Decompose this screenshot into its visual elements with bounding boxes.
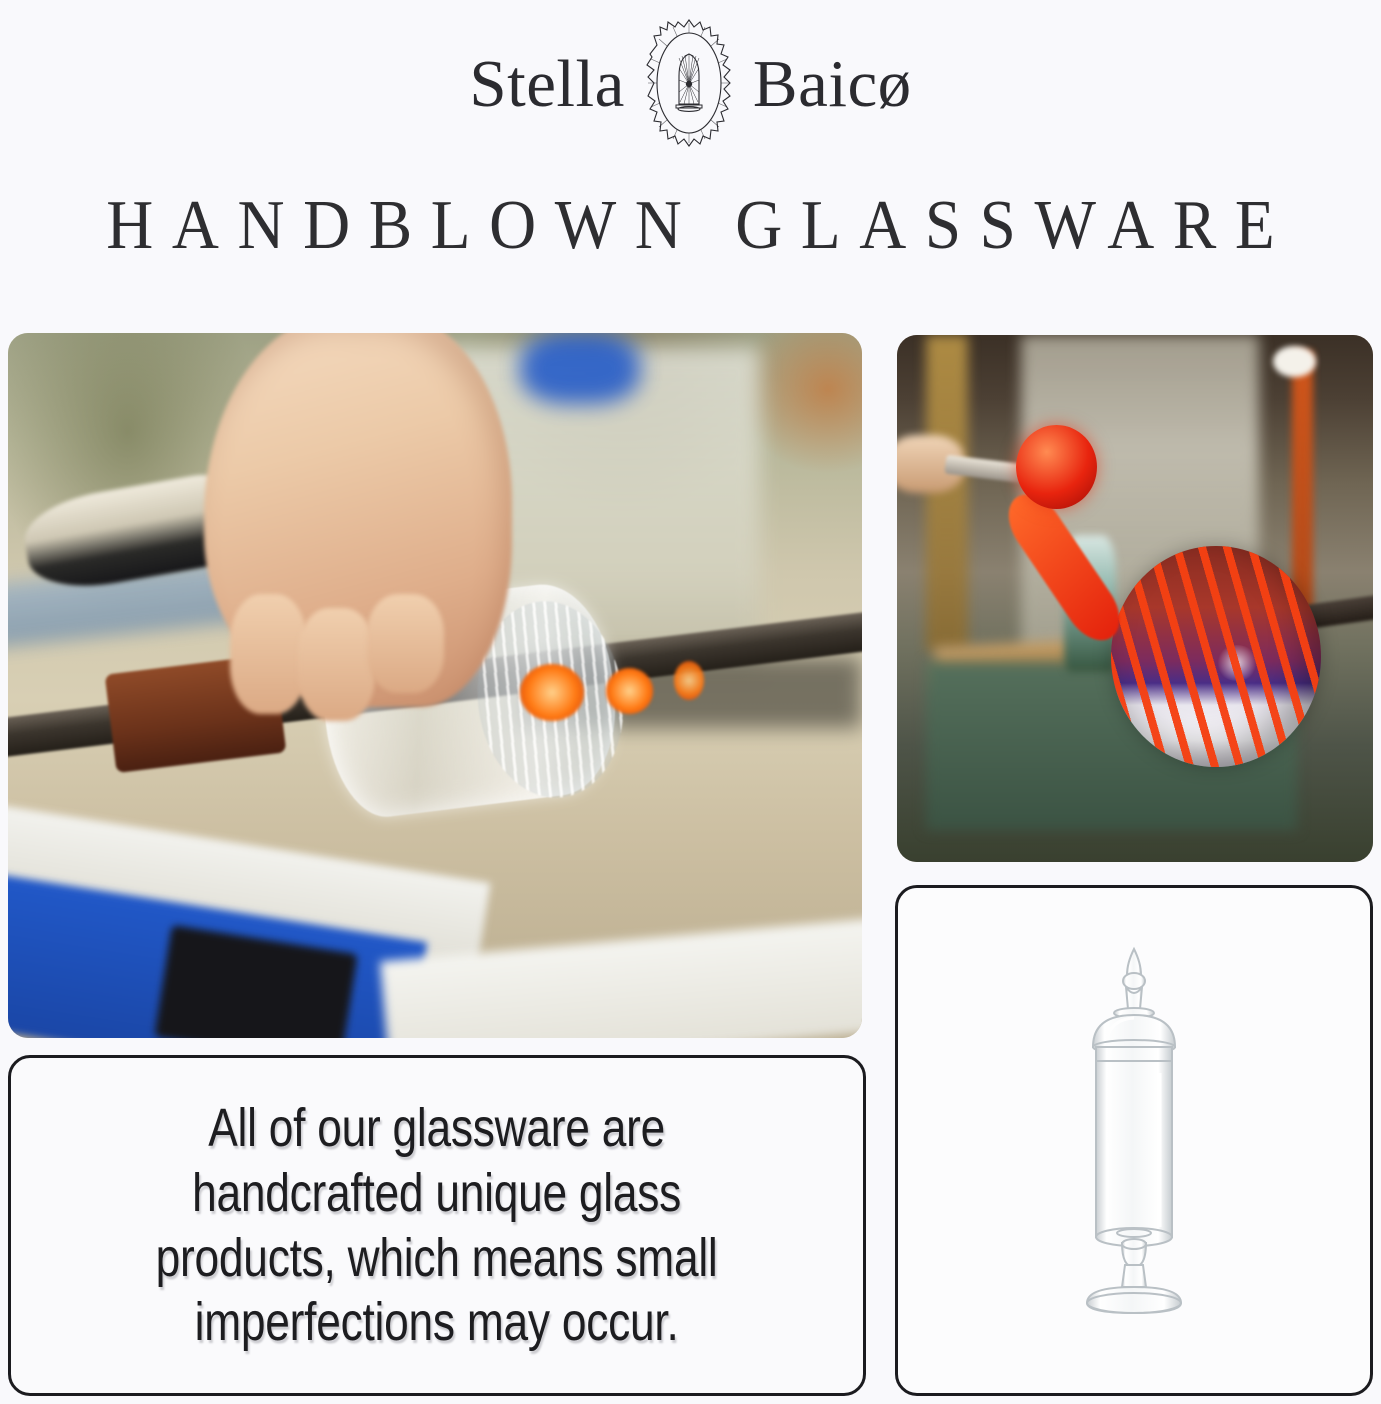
brand-word-right: Baicø bbox=[753, 51, 912, 118]
disclaimer-note-box: All of our glassware are handcrafted uni… bbox=[8, 1055, 866, 1396]
glowing-hot-glass-core-3 bbox=[674, 661, 704, 700]
molten-glass-gob bbox=[1016, 425, 1097, 509]
brand-word-left: Stella bbox=[469, 51, 625, 118]
finger bbox=[230, 594, 307, 714]
glassblower-shaping-hot-vessel-photo bbox=[8, 333, 862, 1038]
glass-sphere-with-red-spiral bbox=[1111, 546, 1320, 767]
glowing-hot-glass-core-2 bbox=[606, 668, 653, 714]
note-line: imperfections may occur. bbox=[156, 1290, 718, 1355]
disclaimer-note-text: All of our glassware are handcrafted uni… bbox=[156, 1096, 718, 1355]
glowing-hot-glass-core bbox=[520, 664, 584, 720]
studio-wooden-beam bbox=[926, 335, 969, 651]
studio-lamp bbox=[1273, 346, 1316, 378]
finger bbox=[298, 608, 375, 721]
oval-rosette-ornament-icon bbox=[641, 18, 737, 148]
note-line: All of our glassware are bbox=[156, 1096, 718, 1161]
note-line: handcrafted unique glass bbox=[156, 1161, 718, 1226]
molten-red-glass-spiral-photo bbox=[897, 335, 1373, 862]
clear-glass-apothecary-jar-photo bbox=[895, 885, 1373, 1396]
note-line: products, which means small bbox=[156, 1226, 718, 1291]
apothecary-jar-illustration bbox=[1059, 941, 1209, 1341]
finger bbox=[367, 594, 444, 693]
brand-header: Stella bbox=[0, 0, 1381, 165]
sphere-highlight bbox=[1216, 645, 1258, 680]
page-title: HANDBLOWN GLASSWARE bbox=[48, 186, 1332, 266]
workshop-blue-equipment bbox=[520, 333, 640, 404]
